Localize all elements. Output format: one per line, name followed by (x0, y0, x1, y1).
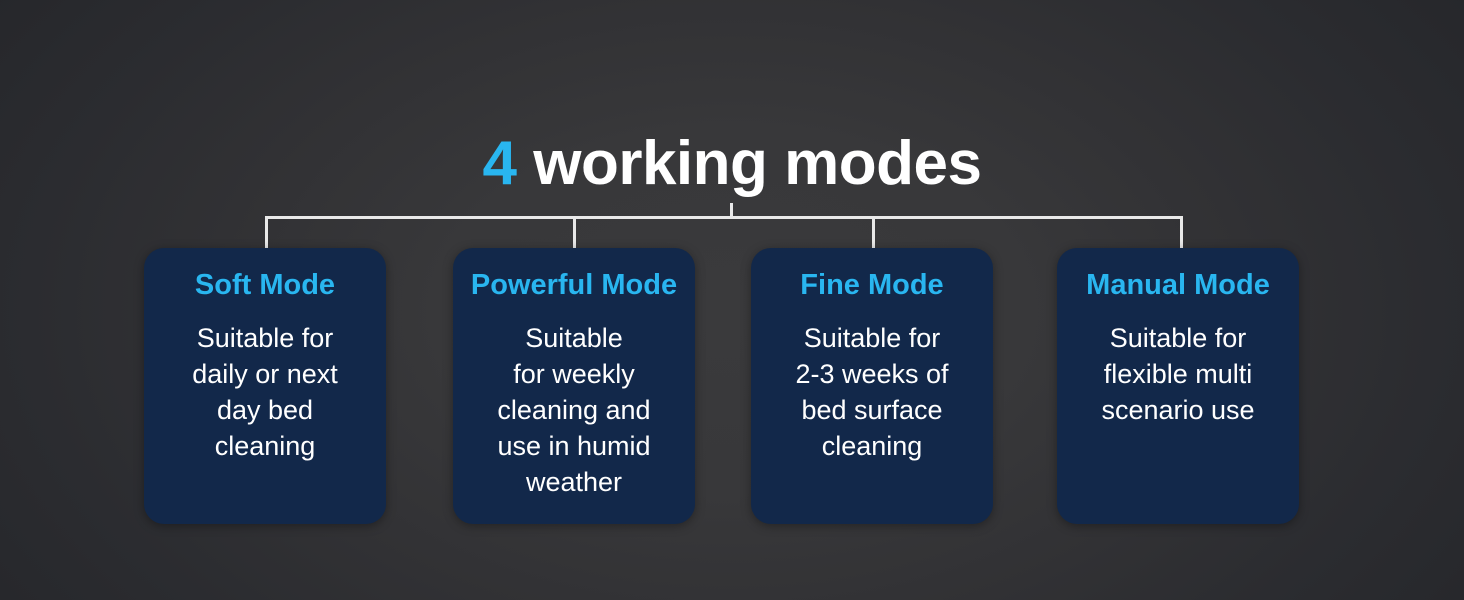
infographic-canvas: 4 working modes Soft Mode Suitable for d… (0, 0, 1464, 600)
mode-card-manual: Manual Mode Suitable for flexible multi … (1057, 248, 1299, 524)
mode-card-description: Suitable for daily or next day bed clean… (154, 320, 376, 464)
mode-card-title: Soft Mode (154, 266, 376, 304)
mode-count: 4 (483, 129, 517, 198)
mode-card-title: Powerful Mode (463, 266, 685, 304)
mode-card-powerful: Powerful Mode Suitable for weekly cleani… (453, 248, 695, 524)
connector-drop-1 (265, 216, 268, 250)
mode-card-description: Suitable for flexible multi scenario use (1067, 320, 1289, 428)
mode-card-description: Suitable for weekly cleaning and use in … (463, 320, 685, 500)
mode-card-title: Fine Mode (761, 266, 983, 304)
connector-horizontal-bar (265, 216, 1183, 219)
connector-drop-2 (573, 216, 576, 250)
mode-card-soft: Soft Mode Suitable for daily or next day… (144, 248, 386, 524)
connector-drop-3 (872, 216, 875, 250)
page-title-text: working modes (517, 129, 982, 198)
page-title: 4 working modes (0, 126, 1464, 202)
mode-card-description: Suitable for 2-3 weeks of bed surface cl… (761, 320, 983, 464)
connector-drop-4 (1180, 216, 1183, 250)
mode-card-title: Manual Mode (1067, 266, 1289, 304)
mode-card-fine: Fine Mode Suitable for 2-3 weeks of bed … (751, 248, 993, 524)
